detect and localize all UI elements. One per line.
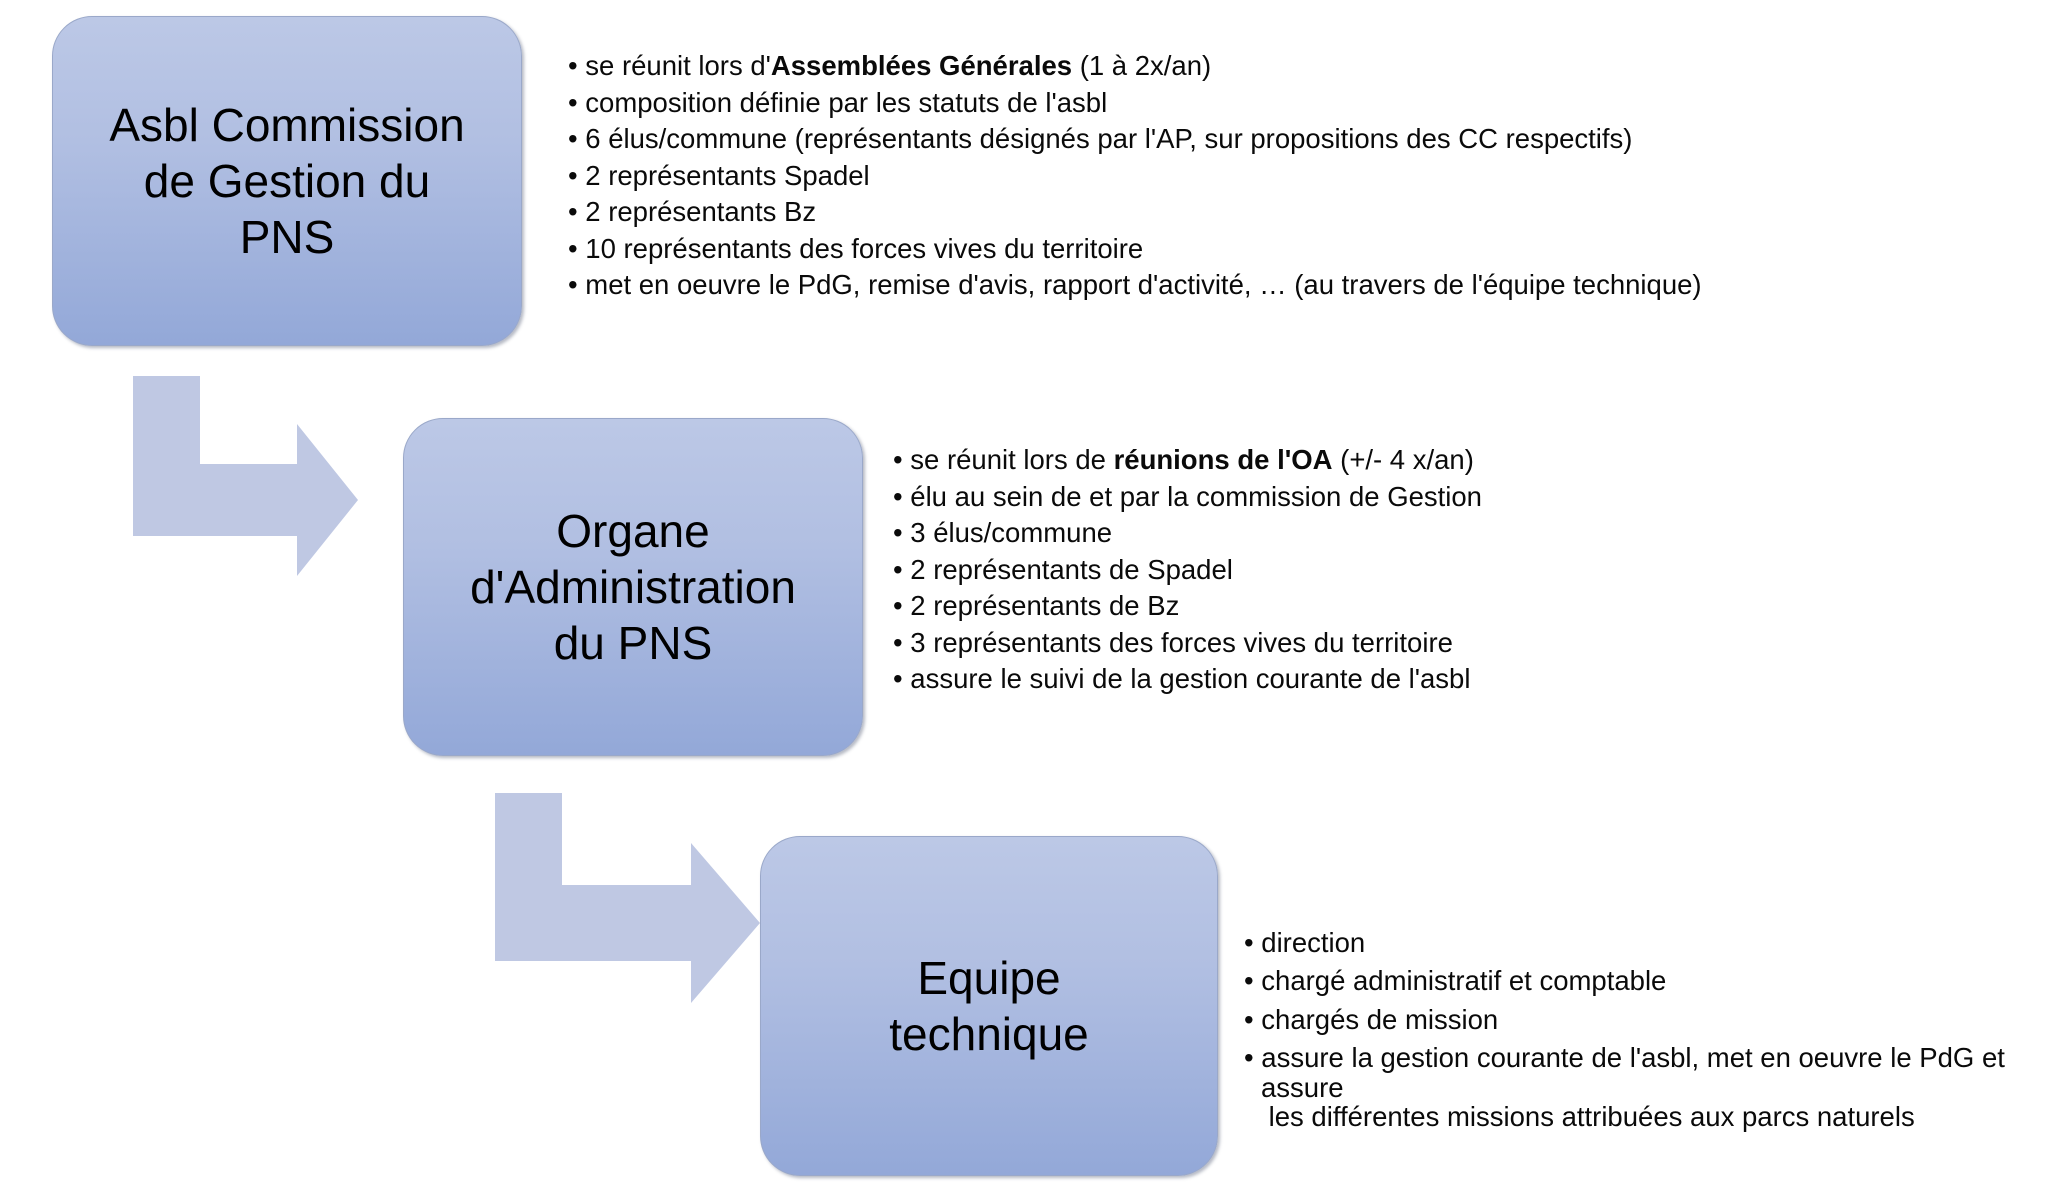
node-label: Organe d'Administration du PNS [470, 503, 796, 671]
bullet-text-bold: Assemblées Générales [771, 50, 1072, 81]
bullet-item: • composition définie par les statuts de… [568, 89, 1988, 117]
bullet-item: • direction [1244, 928, 2034, 957]
bullet-text-prefix: chargé administratif et comptable [1261, 965, 1666, 996]
bullet-marker: • [1244, 1042, 1254, 1073]
bullet-text-prefix: 10 représentants des forces vives du ter… [585, 233, 1143, 264]
bullet-marker: • [568, 196, 578, 227]
bullet-marker: • [893, 554, 903, 585]
bullet-marker: • [893, 481, 903, 512]
bullet-item: • élu au sein de et par la commission de… [893, 483, 1893, 511]
bullet-item: • 10 représentants des forces vives du t… [568, 235, 1988, 263]
bent-arrow-path [495, 793, 760, 1003]
bullet-text-prefix: se réunit lors de [910, 444, 1113, 475]
bullet-text-prefix: 2 représentants de Spadel [910, 554, 1233, 585]
bullet-marker: • [893, 444, 903, 475]
bullet-text-prefix: chargés de mission [1261, 1004, 1498, 1035]
bullet-item: • chargés de mission [1244, 1005, 2034, 1034]
node-organe-dadministration-du-pns[interactable]: Organe d'Administration du PNS [403, 418, 863, 756]
bullet-marker: • [1244, 927, 1254, 958]
bullet-item: • chargé administratif et comptable [1244, 966, 2034, 995]
bent-arrow-path [133, 376, 358, 576]
bullet-text-prefix: 6 élus/commune (représentants désignés p… [585, 123, 1632, 154]
bullet-text-prefix: 2 représentants de Bz [910, 590, 1179, 621]
bullet-text-prefix: assure la gestion courante de l'asbl, me… [1261, 1042, 2013, 1132]
bullet-text-prefix: assure le suivi de la gestion courante d… [910, 663, 1470, 694]
bullet-text-prefix: élu au sein de et par la commission de G… [910, 481, 1482, 512]
bullet-marker: • [568, 233, 578, 264]
node-asbl-commission-de-gestion-du-pns[interactable]: Asbl Commission de Gestion du PNS [52, 16, 522, 346]
bullet-item: • assure le suivi de la gestion courante… [893, 665, 1893, 693]
bullet-text-prefix: 3 élus/commune [910, 517, 1112, 548]
bullet-marker: • [893, 590, 903, 621]
bullet-marker: • [568, 160, 578, 191]
bullet-item: • 2 représentants de Spadel [893, 556, 1893, 584]
bullet-text-prefix: 2 représentants Bz [585, 196, 816, 227]
node-label: Asbl Commission de Gestion du PNS [109, 97, 464, 265]
node-label: Equipe technique [889, 950, 1089, 1062]
node-equipe-technique[interactable]: Equipe technique [760, 836, 1218, 1176]
bullet-marker: • [568, 87, 578, 118]
bullet-text-suffix: (+/- 4 x/an) [1333, 444, 1474, 475]
bullet-marker: • [893, 627, 903, 658]
bullet-text-prefix: composition définie par les statuts de l… [585, 87, 1107, 118]
bullet-marker: • [568, 269, 578, 300]
bullet-text-prefix: direction [1261, 927, 1365, 958]
bullet-text-prefix: 3 représentants des forces vives du terr… [910, 627, 1453, 658]
bullet-marker: • [893, 517, 903, 548]
bullet-item: • assure la gestion courante de l'asbl, … [1244, 1043, 2034, 1131]
bullet-list-organe: • se réunit lors de réunions de l'OA (+/… [893, 446, 1893, 693]
bent-arrow-commission-to-organe-icon [133, 376, 358, 591]
bullet-item: • met en oeuvre le PdG, remise d'avis, r… [568, 271, 1988, 299]
bullet-list-equipe: • direction • chargé administratif et co… [1244, 928, 2034, 1132]
bullet-text-suffix: (1 à 2x/an) [1072, 50, 1211, 81]
bullet-item: • 2 représentants de Bz [893, 592, 1893, 620]
bullet-marker: • [568, 123, 578, 154]
bullet-item: • se réunit lors de réunions de l'OA (+/… [893, 446, 1893, 474]
bullet-item: • se réunit lors d'Assemblées Générales … [568, 52, 1988, 80]
bullet-item: • 3 élus/commune [893, 519, 1893, 547]
bullet-item: • 2 représentants Spadel [568, 162, 1988, 190]
bullet-marker: • [1244, 965, 1254, 996]
bullet-text-prefix: met en oeuvre le PdG, remise d'avis, rap… [585, 269, 1701, 300]
bullet-marker: • [568, 50, 578, 81]
bullet-marker: • [1244, 1004, 1254, 1035]
bullet-item: • 2 représentants Bz [568, 198, 1988, 226]
bullet-text-bold: réunions de l'OA [1114, 444, 1333, 475]
bullet-item: • 6 élus/commune (représentants désignés… [568, 125, 1988, 153]
bullet-list-commission: • se réunit lors d'Assemblées Générales … [568, 52, 1988, 299]
bullet-text-prefix: se réunit lors d' [585, 50, 771, 81]
bullet-marker: • [893, 663, 903, 694]
bullet-item: • 3 représentants des forces vives du te… [893, 629, 1893, 657]
bent-arrow-organe-to-equipe-icon [495, 793, 760, 1017]
org-flow-diagram: Asbl Commission de Gestion du PNS • se r… [0, 0, 2048, 1198]
bullet-text-prefix: 2 représentants Spadel [585, 160, 869, 191]
